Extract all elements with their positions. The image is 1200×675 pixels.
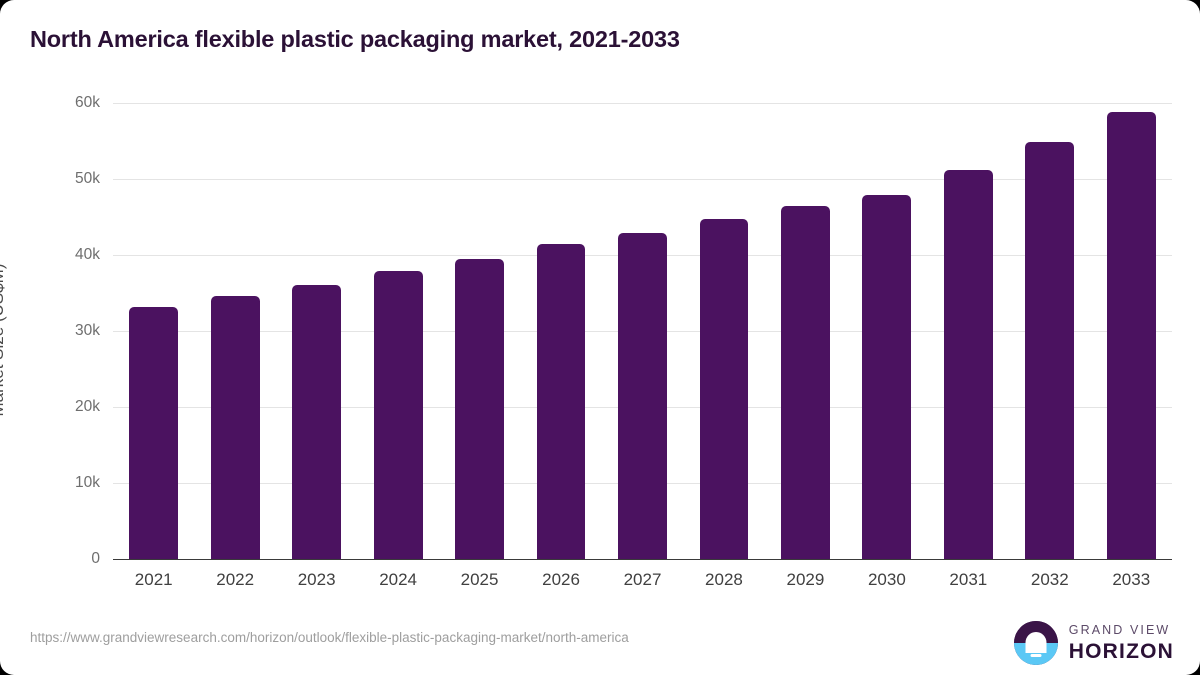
- y-tick-label: 30k: [75, 322, 100, 340]
- bar[interactable]: [1107, 112, 1156, 559]
- logo-ray-1: [1027, 649, 1044, 652]
- y-tick-label: 60k: [75, 94, 100, 112]
- bar[interactable]: [1025, 142, 1074, 559]
- bar[interactable]: [292, 285, 341, 559]
- x-tick-label: 2031: [949, 570, 987, 590]
- x-tick-label: 2024: [379, 570, 417, 590]
- x-axis-line: [113, 559, 1172, 560]
- x-tick-label: 2029: [787, 570, 825, 590]
- bar[interactable]: [211, 296, 260, 559]
- bar[interactable]: [455, 259, 504, 559]
- y-tick-label: 10k: [75, 474, 100, 492]
- x-tick-label: 2033: [1112, 570, 1150, 590]
- grand-view-horizon-logo: GRAND VIEW HORIZON: [1014, 621, 1174, 665]
- x-tick-label: 2027: [624, 570, 662, 590]
- source-url[interactable]: https://www.grandviewresearch.com/horizo…: [30, 630, 629, 645]
- bar[interactable]: [862, 195, 911, 559]
- horizon-sun-icon: [1014, 621, 1058, 665]
- bar-series: [113, 103, 1172, 559]
- y-tick-label: 50k: [75, 170, 100, 188]
- x-tick-label: 2026: [542, 570, 580, 590]
- logo-top-text: GRAND VIEW: [1069, 624, 1174, 637]
- bar[interactable]: [618, 233, 667, 559]
- y-tick-label: 40k: [75, 246, 100, 264]
- bar[interactable]: [700, 219, 749, 559]
- chart-plot: Market Size (US$M) 010k20k30k40k50k60k 2…: [0, 0, 1200, 675]
- x-tick-label: 2023: [298, 570, 336, 590]
- y-tick-label: 20k: [75, 398, 100, 416]
- x-tick-label: 2021: [135, 570, 173, 590]
- y-tick-label: 0: [91, 550, 100, 568]
- logo-wordmark: GRAND VIEW HORIZON: [1069, 624, 1174, 662]
- logo-bottom-text: HORIZON: [1069, 641, 1174, 662]
- bar[interactable]: [944, 170, 993, 559]
- y-axis-tick-labels: 010k20k30k40k50k60k: [0, 103, 100, 559]
- bar[interactable]: [129, 307, 178, 559]
- chart-card: North America flexible plastic packaging…: [0, 0, 1200, 675]
- x-tick-label: 2030: [868, 570, 906, 590]
- bar[interactable]: [374, 271, 423, 559]
- x-tick-label: 2025: [461, 570, 499, 590]
- x-axis-tick-labels: 2021202220232024202520262027202820292030…: [113, 570, 1172, 596]
- bar[interactable]: [781, 206, 830, 559]
- x-tick-label: 2032: [1031, 570, 1069, 590]
- x-tick-label: 2028: [705, 570, 743, 590]
- x-tick-label: 2022: [216, 570, 254, 590]
- bar[interactable]: [537, 244, 586, 559]
- logo-ray-2: [1030, 654, 1041, 657]
